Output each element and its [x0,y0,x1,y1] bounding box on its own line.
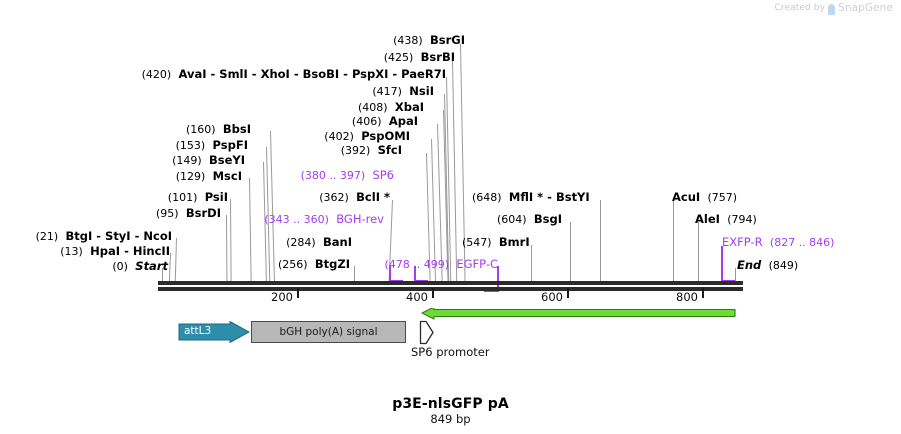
enzyme-name: EXFP-R [722,235,763,249]
enzyme-position: (101) [168,191,198,204]
enzyme-label-mfli[interactable]: (648) MflI * - BstYI [472,191,590,204]
enzyme-name: BsoBI [303,67,340,81]
enzyme-position: (149) [172,154,202,167]
ruler-label-800: 800 [676,290,698,304]
watermark-brand: SnapGene [838,2,893,14]
feature-sp6-promoter[interactable] [419,320,435,345]
enzyme-label-sp6[interactable]: (380 .. 397) SP6 [301,169,394,182]
enzyme-name: AcuI [672,190,700,204]
leader-line [600,200,601,281]
enzyme-label-bsrbi[interactable]: (425) BsrBI [384,51,455,64]
leader-line [673,200,674,281]
enzyme-label-end[interactable]: End (849) [737,259,798,272]
enzyme-position: (284) [286,236,316,249]
enzyme-label-bmri[interactable]: (547) BmrI [462,236,530,249]
enzyme-position: (362) [319,191,349,204]
primer-bracket-exfp-r [721,246,735,281]
enzyme-position: (129) [176,170,206,183]
enzyme-name: SP6 [372,168,394,182]
feature-bgh-polya-signal[interactable]: bGH poly(A) signal [251,321,406,343]
snapgene-watermark: Created by SnapGene [775,2,893,14]
leader-line [230,199,232,281]
enzyme-name: Start [135,259,168,273]
enzyme-position: (417) [372,85,402,98]
enzyme-label-bsrgi[interactable]: (438) BsrGI [393,34,465,47]
enzyme-position: (438) [393,34,423,47]
enzyme-name: EGFP-C [456,257,498,271]
name-separator: - [207,67,220,81]
enzyme-position: (425) [384,51,414,64]
enzyme-name: BanI [323,235,352,249]
enzyme-name: BclI * [356,190,390,204]
enzyme-position: (0) [112,260,128,273]
enzyme-label-bseyi[interactable]: (149) BseYI [172,154,245,167]
enzyme-label-nsii[interactable]: (417) NsiI [372,85,434,98]
enzyme-label-pspomi[interactable]: (402) PspOMI [324,130,410,143]
enzyme-label-psii[interactable]: (101) PsiI [168,191,228,204]
enzyme-position: (757) [708,191,738,204]
enzyme-position: (21) [36,230,59,243]
enzyme-name: NsiI [409,84,434,98]
enzyme-name: AleI [695,212,720,226]
enzyme-label-acui[interactable]: AcuI (757) [672,191,737,204]
enzyme-name: XhoI [261,67,290,81]
enzyme-name: BtgZI [315,257,350,271]
enzyme-name: MflI * [509,190,543,204]
enzyme-name: BbsI [223,122,251,136]
enzyme-name: BsrBI [421,50,455,64]
enzyme-position: (392) [341,144,371,157]
enzyme-label-bani[interactable]: (284) BanI [286,236,352,249]
enzyme-label-xbai[interactable]: (408) XbaI [358,101,424,114]
enzyme-position: (849) [769,259,799,272]
enzyme-label-hpai[interactable]: (13) HpaI - HincII [60,245,170,258]
ruler-tick [567,288,569,298]
ruler-tick [432,288,434,298]
name-separator: - [339,67,352,81]
leader-line [249,178,252,281]
sp6-promoter-arrow-icon [419,320,435,345]
enzyme-label-avai[interactable]: (420) AvaI - SmlI - XhoI - BsoBI - PspXI… [142,68,446,81]
enzyme-position: (604) [497,213,527,226]
leader-line [270,131,275,281]
enzyme-name: BtgI [65,229,92,243]
watermark-prefix: Created by [775,3,826,13]
enzyme-name: PspOMI [361,129,410,143]
enzyme-name: End [737,258,761,272]
enzyme-label-start[interactable]: (0) Start [112,260,168,273]
enzyme-position: (648) [472,191,502,204]
enzyme-label-apai[interactable]: (406) ApaI [352,115,418,128]
sequence-backbone-upper [158,281,743,285]
enzyme-position: (402) [324,130,354,143]
enzyme-name: BGH-rev [336,212,384,226]
leader-line [735,268,736,281]
leader-line [226,215,227,281]
enzyme-name: HpaI [90,244,120,258]
ruler-label-400: 400 [406,290,428,304]
leader-line [175,238,177,281]
egfp-transcript-arrow [421,305,736,317]
enzyme-label-alei[interactable]: AleI (794) [695,213,757,226]
enzyme-name: SmlI [219,67,248,81]
enzyme-position: (420) [142,68,172,81]
name-separator: - [543,190,556,204]
enzyme-name: BsrGI [430,33,465,47]
enzyme-label-pspfi[interactable]: (153) PspFI [176,139,248,152]
leader-line [531,245,532,281]
feature-attl3-label: attL3 [184,325,211,337]
feature-attl3[interactable]: attL3 [178,321,250,343]
sequence-backbone-lower [158,287,743,291]
enzyme-position: (408) [358,101,388,114]
enzyme-name: StyI [105,229,131,243]
enzyme-position: (827 .. 846) [770,236,835,249]
name-separator: - [248,67,261,81]
plasmid-title: p3E-nlsGFP pA [0,396,901,412]
enzyme-name: PspXI [352,67,388,81]
enzyme-position: (13) [60,245,83,258]
enzyme-name: PaeR7I [401,67,446,81]
enzyme-label-btgzi[interactable]: (256) BtgZI [278,258,350,271]
enzyme-position: (794) [727,213,757,226]
feature-bgh-polya-label: bGH poly(A) signal [279,326,377,338]
enzyme-position: (406) [352,115,382,128]
feature-sp6-promoter-label: SP6 promoter [411,345,490,359]
enzyme-position: (380 .. 397) [301,169,366,182]
snapgene-logo-icon [828,4,835,15]
name-separator: - [131,229,144,243]
leader-line [698,222,699,281]
ruler-tick [702,288,704,298]
enzyme-label-bbsi[interactable]: (160) BbsI [186,123,251,136]
enzyme-label-bsrdi[interactable]: (95) BsrDI [156,207,221,220]
name-separator: - [92,229,105,243]
enzyme-label-btgi[interactable]: (21) BtgI - StyI - NcoI [36,230,172,243]
enzyme-position: (478 .. 499) [384,258,449,271]
ruler-label-200: 200 [271,290,293,304]
enzyme-name: BsgI [534,212,562,226]
green-arrow-icon [421,308,736,320]
enzyme-position: (153) [176,139,206,152]
leader-line [452,60,457,281]
enzyme-name: BstYI [556,190,590,204]
enzyme-position: (343 .. 360) [264,213,329,226]
enzyme-name: MscI [213,169,242,183]
enzyme-name: NcoI [143,229,172,243]
enzyme-name: BmrI [499,235,530,249]
enzyme-label-exfpr[interactable]: EXFP-R (827 .. 846) [722,236,834,249]
enzyme-name: ApaI [389,114,418,128]
plasmid-length: 849 bp [0,412,901,426]
leader-line [570,222,571,281]
enzyme-position: (547) [462,236,492,249]
enzyme-label-msci[interactable]: (129) MscI [176,170,242,183]
enzyme-position: (95) [156,207,179,220]
enzyme-name: SfcI [378,143,402,157]
enzyme-label-bsgi[interactable]: (604) BsgI [497,213,562,226]
ruler-tick [297,288,299,298]
enzyme-name: XbaI [395,100,424,114]
leader-line [354,266,355,281]
enzyme-name: PsiI [205,190,228,204]
name-separator: - [388,67,401,81]
ruler-label-600: 600 [541,290,563,304]
enzyme-name: BsrDI [186,206,221,220]
plasmid-map-canvas: Created by SnapGene [0,0,901,434]
name-separator: - [290,67,303,81]
enzyme-position: (256) [278,258,308,271]
enzyme-name: PspFI [213,138,248,152]
enzyme-label-egfpc[interactable]: (478 .. 499) EGFP-C [384,258,498,271]
enzyme-label-sfci[interactable]: (392) SfcI [341,144,402,157]
enzyme-label-bghrev[interactable]: (343 .. 360) BGH-rev [264,213,384,226]
enzyme-name: AvaI [178,67,206,81]
enzyme-name: BseYI [209,153,245,167]
enzyme-label-bcli[interactable]: (362) BclI * [319,191,390,204]
name-separator: - [120,244,133,258]
enzyme-name: HincII [133,244,170,258]
enzyme-position: (160) [186,123,216,136]
